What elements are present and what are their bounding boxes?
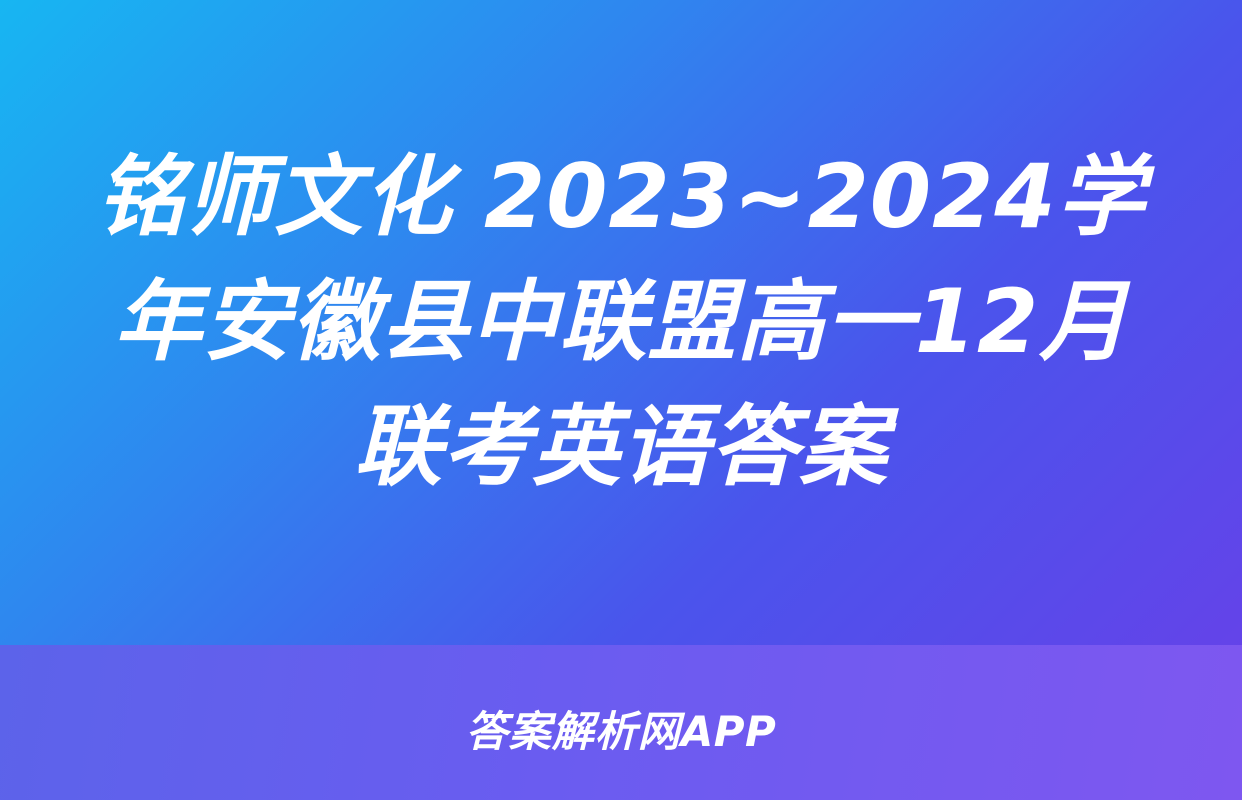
title-block: 铭师文化 2023~2024学 年安徽县中联盟高一12月 联考英语答案 bbox=[0, 0, 1242, 645]
title-line-3: 联考英语答案 bbox=[354, 385, 888, 510]
promo-banner: 铭师文化 2023~2024学 年安徽县中联盟高一12月 联考英语答案 答案解析… bbox=[0, 0, 1242, 800]
footer-brand-en: APP bbox=[681, 707, 777, 756]
footer-brand: 答案解析网 APP bbox=[466, 698, 777, 759]
title-line-2: 年安徽县中联盟高一12月 bbox=[114, 260, 1128, 385]
footer-brand-cn: 答案解析网 bbox=[466, 698, 681, 759]
footer-bar: 答案解析网 APP bbox=[0, 645, 1242, 800]
title-line-1: 铭师文化 2023~2024学 bbox=[96, 135, 1145, 260]
